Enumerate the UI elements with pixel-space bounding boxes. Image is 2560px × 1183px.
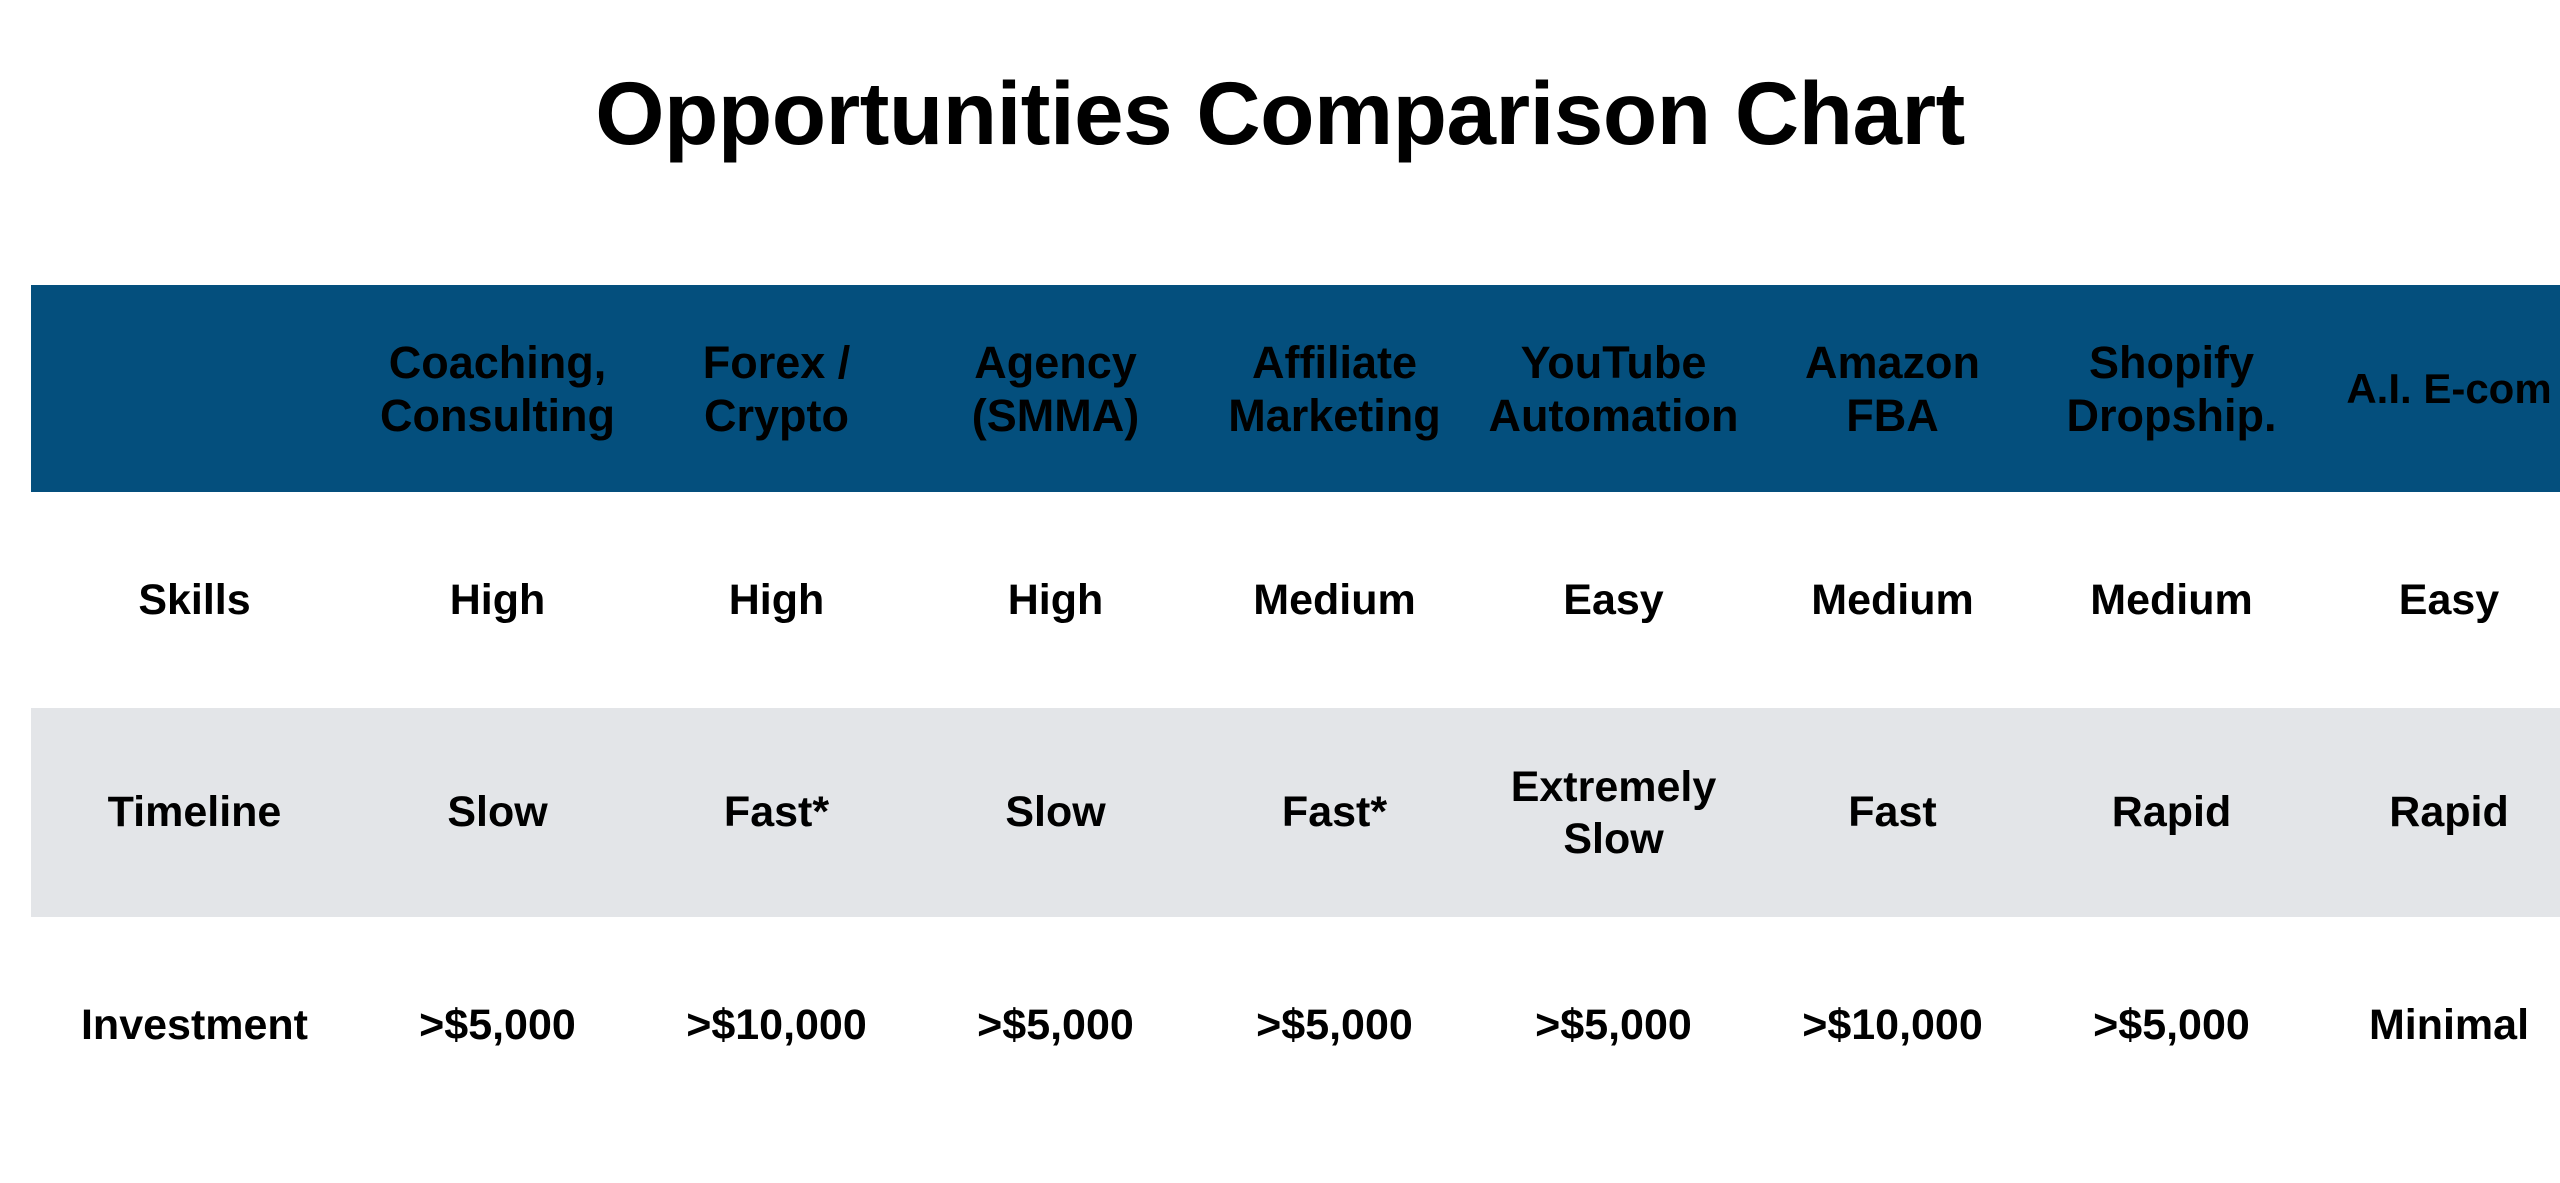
column-header-forex-crypto: Forex / Crypto xyxy=(637,285,916,492)
cell-investment-affiliate-marketing: >$5,000 xyxy=(1195,917,1474,1133)
row-label-investment: Investment xyxy=(31,917,358,1133)
column-header-line-1: Forex / xyxy=(637,336,916,389)
column-header-line-1: Affiliate xyxy=(1195,336,1474,389)
cell-skills-agency-smma: High xyxy=(916,492,1195,708)
column-header-line-1: A.I. E-com xyxy=(2313,362,2560,415)
cell-skills-shopify-dropship: Medium xyxy=(2032,492,2311,708)
row-label-timeline: Timeline xyxy=(31,708,358,917)
cell-investment-youtube-automation: >$5,000 xyxy=(1474,917,1753,1133)
column-header-amazon-fba: Amazon FBA xyxy=(1753,285,2032,492)
cell-timeline-coaching-consulting: Slow xyxy=(358,708,637,917)
cell-skills-affiliate-marketing: Medium xyxy=(1195,492,1474,708)
header-corner-cell xyxy=(31,285,358,492)
row-label-skills: Skills xyxy=(31,492,358,708)
table-header-row: Coaching, Consulting Forex / Crypto Agen… xyxy=(31,285,2560,492)
cell-line-2: Slow xyxy=(1474,813,1753,865)
cell-investment-forex-crypto: >$10,000 xyxy=(637,917,916,1133)
cell-investment-ai-ecom: Minimal xyxy=(2311,917,2560,1133)
column-header-line-2: Consulting xyxy=(358,389,637,442)
cell-investment-shopify-dropship: >$5,000 xyxy=(2032,917,2311,1133)
column-header-line-1: Coaching, xyxy=(358,336,637,389)
column-header-shopify-dropship: Shopify Dropship. xyxy=(2032,285,2311,492)
cell-skills-forex-crypto: High xyxy=(637,492,916,708)
column-header-line-2: Dropship. xyxy=(2032,389,2311,442)
table-row: Skills High High High Medium Easy Medium… xyxy=(31,492,2560,708)
column-header-line-1: YouTube xyxy=(1474,336,1753,389)
table-row: Investment >$5,000 >$10,000 >$5,000 >$5,… xyxy=(31,917,2560,1133)
column-header-line-1: Shopify xyxy=(2032,336,2311,389)
column-header-line-2: Crypto xyxy=(637,389,916,442)
column-header-ai-ecom: A.I. E-com xyxy=(2311,285,2560,492)
column-header-agency-smma: Agency (SMMA) xyxy=(916,285,1195,492)
cell-timeline-ai-ecom: Rapid xyxy=(2311,708,2560,917)
cell-timeline-amazon-fba: Fast xyxy=(1753,708,2032,917)
table-header: Coaching, Consulting Forex / Crypto Agen… xyxy=(31,285,2560,492)
cell-timeline-youtube-automation: Extremely Slow xyxy=(1474,708,1753,917)
comparison-chart-page: Opportunities Comparison Chart Coaching,… xyxy=(0,0,2560,1183)
opportunities-comparison-table: Coaching, Consulting Forex / Crypto Agen… xyxy=(31,285,2560,1133)
column-header-line-2: Automation xyxy=(1474,389,1753,442)
column-header-line-1: Amazon xyxy=(1753,336,2032,389)
column-header-line-2: Marketing xyxy=(1195,389,1474,442)
page-title: Opportunities Comparison Chart xyxy=(0,58,2560,168)
column-header-line-1: Agency xyxy=(916,336,1195,389)
column-header-youtube-automation: YouTube Automation xyxy=(1474,285,1753,492)
table-row: Timeline Slow Fast* Slow Fast* Extremely… xyxy=(31,708,2560,917)
column-header-line-2: FBA xyxy=(1753,389,2032,442)
column-header-coaching-consulting: Coaching, Consulting xyxy=(358,285,637,492)
cell-skills-youtube-automation: Easy xyxy=(1474,492,1753,708)
cell-investment-coaching-consulting: >$5,000 xyxy=(358,917,637,1133)
cell-timeline-forex-crypto: Fast* xyxy=(637,708,916,917)
cell-skills-amazon-fba: Medium xyxy=(1753,492,2032,708)
cell-line-1: Extremely xyxy=(1474,761,1753,813)
cell-investment-amazon-fba: >$10,000 xyxy=(1753,917,2032,1133)
cell-investment-agency-smma: >$5,000 xyxy=(916,917,1195,1133)
column-header-line-2: (SMMA) xyxy=(916,389,1195,442)
cell-skills-ai-ecom: Easy xyxy=(2311,492,2560,708)
cell-timeline-agency-smma: Slow xyxy=(916,708,1195,917)
cell-timeline-shopify-dropship: Rapid xyxy=(2032,708,2311,917)
column-header-affiliate-marketing: Affiliate Marketing xyxy=(1195,285,1474,492)
table-body: Skills High High High Medium Easy Medium… xyxy=(31,492,2560,1133)
cell-timeline-affiliate-marketing: Fast* xyxy=(1195,708,1474,917)
cell-skills-coaching-consulting: High xyxy=(358,492,637,708)
